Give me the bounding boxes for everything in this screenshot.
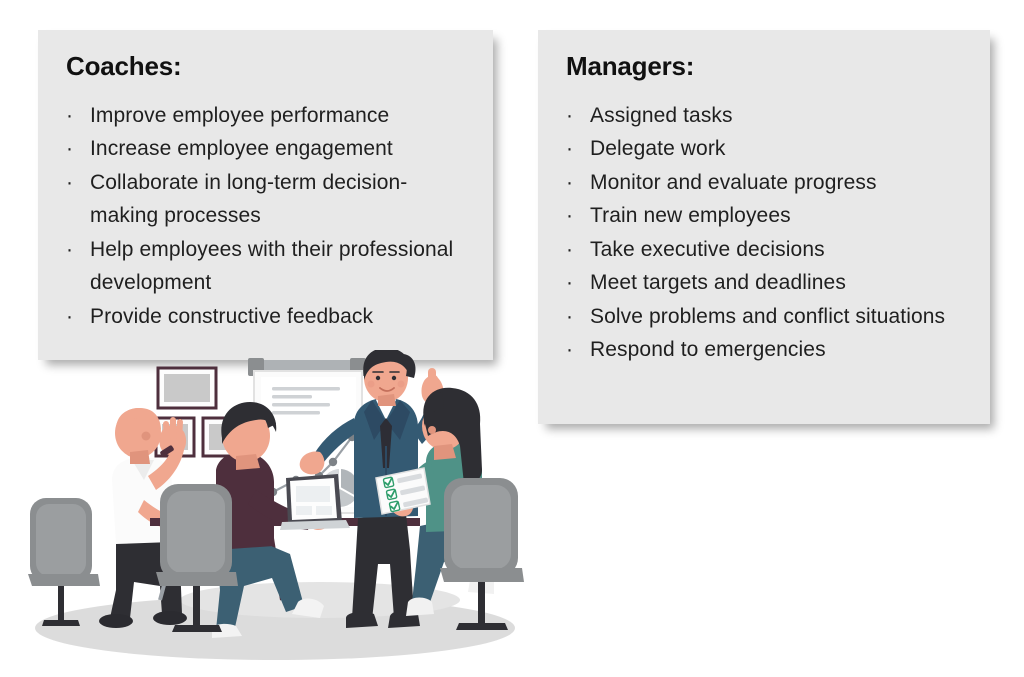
list-item: · Respond to emergencies — [564, 333, 964, 367]
list-item-text: Monitor and evaluate progress — [590, 171, 877, 194]
office-chair — [28, 498, 100, 626]
list-item: · Help employees with their professional… — [64, 233, 467, 300]
list-item: · Improve employee performance — [64, 99, 467, 133]
meeting-illustration — [20, 350, 540, 670]
list-item: · Solve problems and conflict situations — [564, 300, 964, 334]
managers-bullet-list: · Assigned tasks · Delegate work · Monit… — [564, 99, 964, 367]
bullet-icon: · — [66, 300, 73, 334]
list-item-text: Solve problems and conflict situations — [590, 305, 945, 328]
list-item: · Provide constructive feedback — [64, 300, 467, 334]
list-item: · Increase employee engagement — [64, 132, 467, 166]
list-item-text: Take executive decisions — [590, 238, 825, 261]
list-item-text: Respond to emergencies — [590, 338, 826, 361]
list-item: · Assigned tasks — [564, 99, 964, 133]
bullet-icon: · — [66, 132, 73, 166]
list-item-text: Assigned tasks — [590, 104, 733, 127]
list-item: · Train new employees — [564, 199, 964, 233]
list-item-text: Delegate work — [590, 137, 726, 160]
list-item-text: Improve employee performance — [90, 104, 389, 127]
coaches-panel-title: Coaches: — [66, 52, 467, 81]
coaches-panel: Coaches: · Improve employee performance … — [38, 30, 493, 360]
bullet-icon: · — [566, 233, 573, 267]
list-item: · Monitor and evaluate progress — [564, 166, 964, 200]
list-item: · Meet targets and deadlines — [564, 266, 964, 300]
bullet-icon: · — [66, 99, 73, 133]
slide-canvas: Coaches: · Improve employee performance … — [0, 0, 1024, 677]
bullet-icon: · — [566, 199, 573, 233]
bullet-icon: · — [566, 266, 573, 300]
list-item-text: Increase employee engagement — [90, 137, 393, 160]
list-item-text: Train new employees — [590, 204, 791, 227]
bullet-icon: · — [66, 166, 73, 200]
bullet-icon: · — [566, 99, 573, 133]
bullet-icon: · — [566, 300, 573, 334]
coaches-bullet-list: · Improve employee performance · Increas… — [64, 99, 467, 334]
bullet-icon: · — [566, 166, 573, 200]
list-item-text: Provide constructive feedback — [90, 305, 373, 328]
list-item: · Take executive decisions — [564, 233, 964, 267]
managers-panel-title: Managers: — [566, 52, 964, 81]
bullet-icon: · — [66, 233, 73, 267]
list-item: · Collaborate in long-term decision- mak… — [64, 166, 467, 233]
bullet-icon: · — [566, 333, 573, 367]
list-item-text: Meet targets and deadlines — [590, 271, 846, 294]
list-item-text: Collaborate in long-term decision- makin… — [90, 171, 407, 228]
bullet-icon: · — [566, 132, 573, 166]
list-item-text: Help employees with their professional d… — [90, 238, 453, 295]
list-item: · Delegate work — [564, 132, 964, 166]
managers-panel: Managers: · Assigned tasks · Delegate wo… — [538, 30, 990, 424]
